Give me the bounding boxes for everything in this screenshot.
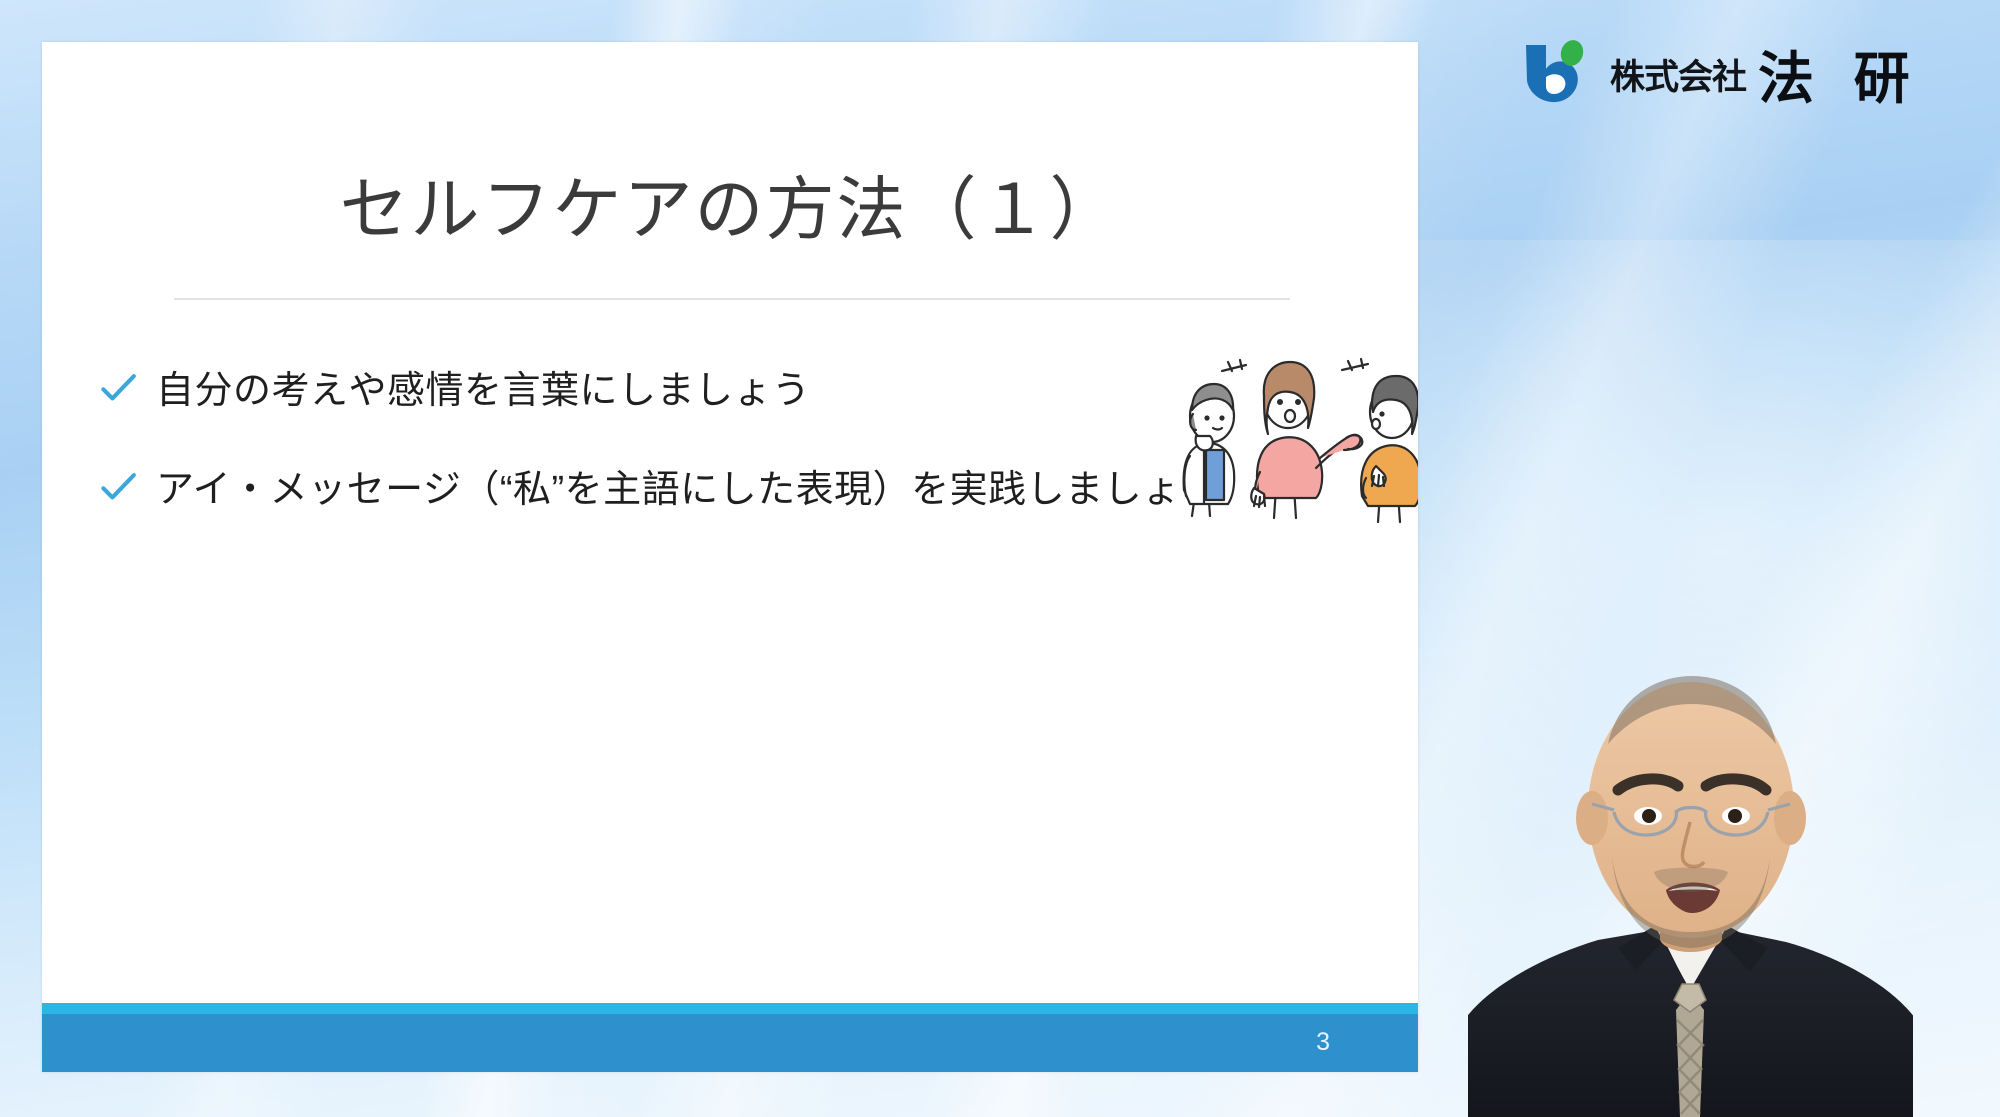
presenter-video [1468, 640, 1913, 1117]
hoken-logo-mark-icon [1520, 39, 1592, 109]
logo-prefix: 株式会社 [1610, 49, 1746, 100]
footer-bar: 3 [42, 1014, 1418, 1072]
check-icon [100, 465, 146, 504]
list-item: 自分の考えや感情を言葉にしましょう [100, 366, 1200, 417]
people-talking-illustration [1170, 338, 1418, 544]
corporate-logo: 株式会社 法 研 [1520, 36, 1922, 112]
list-item-label: 自分の考えや感情を言葉にしましょう [156, 366, 811, 417]
slide-title: セルフケアの方法（１） [42, 174, 1418, 246]
title-divider [174, 298, 1290, 300]
presentation-slide: セルフケアの方法（１） 自分の考えや感情を言葉にしましょう アイ・メッセージ（“… [42, 42, 1418, 1072]
video-frame: 株式会社 法 研 セルフケアの方法（１） 自分の考えや感情を言葉にしましょう [0, 0, 2000, 1117]
page-number: 3 [1316, 1028, 1330, 1057]
logo-company-name: 法 研 [1758, 34, 1922, 115]
footer-accent-stripe [42, 1003, 1418, 1014]
check-icon [100, 366, 146, 405]
list-item: アイ・メッセージ（“私”を主語にした表現）を実践しましょう [100, 465, 1200, 516]
list-item-label: アイ・メッセージ（“私”を主語にした表現）を実践しましょう [156, 465, 1219, 516]
bullet-list: 自分の考えや感情を言葉にしましょう アイ・メッセージ（“私”を主語にした表現）を… [100, 366, 1200, 565]
